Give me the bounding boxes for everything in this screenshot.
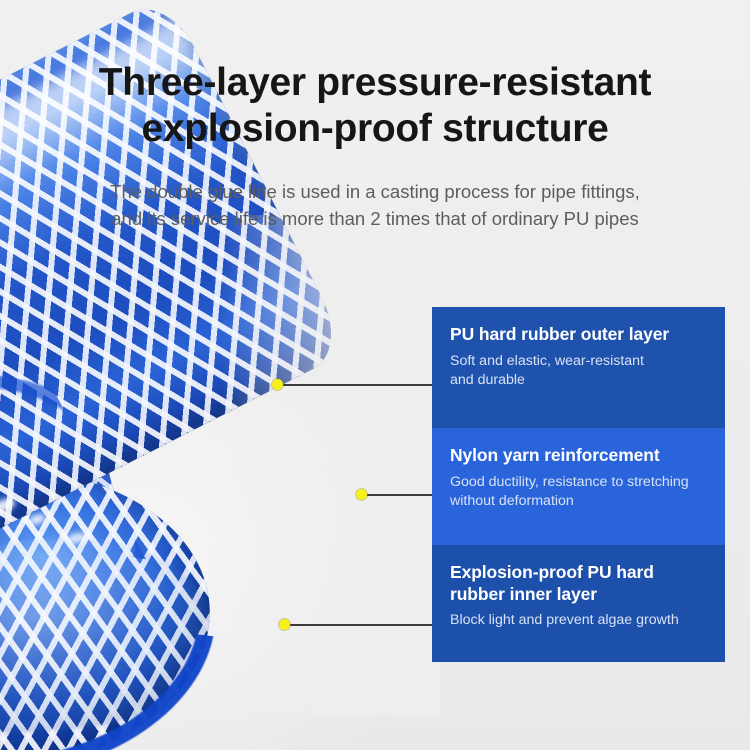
page-title: Three-layer pressure-resistant explosion…	[0, 60, 750, 152]
marker-dot-1[interactable]	[272, 379, 283, 390]
callout-title-line-1: Explosion-proof PU hard	[450, 562, 654, 582]
callout-desc-line-1: Good ductility, resistance to stretching	[450, 474, 689, 490]
title-line-1: Three-layer pressure-resistant	[99, 61, 651, 104]
infographic-canvas: Three-layer pressure-resistant explosion…	[0, 0, 750, 750]
title-line-2: explosion-proof structure	[26, 106, 724, 152]
marker-dot-2[interactable]	[356, 489, 367, 500]
marker-dot-3[interactable]	[279, 619, 290, 630]
callout-panel-stack: PU hard rubber outer layer Soft and elas…	[432, 307, 725, 662]
connector-line-3	[289, 624, 432, 626]
connector-line-1	[282, 384, 432, 386]
callout-panel-outer-layer[interactable]: PU hard rubber outer layer Soft and elas…	[432, 307, 725, 428]
callout-title: Explosion-proof PU hard rubber inner lay…	[450, 561, 709, 605]
callout-panel-nylon-yarn[interactable]: Nylon yarn reinforcement Good ductility,…	[432, 428, 725, 545]
callout-title: Nylon yarn reinforcement	[450, 444, 709, 467]
callout-desc-line-2: without deformation	[450, 493, 574, 509]
callout-panel-inner-layer[interactable]: Explosion-proof PU hard rubber inner lay…	[432, 545, 725, 662]
header-block: Three-layer pressure-resistant explosion…	[0, 34, 750, 251]
callout-description: Block light and prevent algae growth	[450, 611, 709, 630]
subtitle-line-2: and its service life is more than 2 time…	[48, 205, 702, 232]
callout-title: PU hard rubber outer layer	[450, 323, 709, 346]
callout-title-line-2: rubber inner layer	[450, 584, 597, 604]
callout-desc-line-1: Soft and elastic, wear-resistant	[450, 353, 644, 369]
page-subtitle: The double glue line is used in a castin…	[0, 178, 750, 232]
subtitle-line-1: The double glue line is used in a castin…	[110, 181, 640, 202]
callout-description: Soft and elastic, wear-resistant and dur…	[450, 352, 709, 390]
connector-line-2	[366, 494, 432, 496]
callout-description: Good ductility, resistance to stretching…	[450, 473, 709, 511]
product-hose-image	[0, 215, 440, 715]
callout-desc-line-2: and durable	[450, 372, 525, 388]
